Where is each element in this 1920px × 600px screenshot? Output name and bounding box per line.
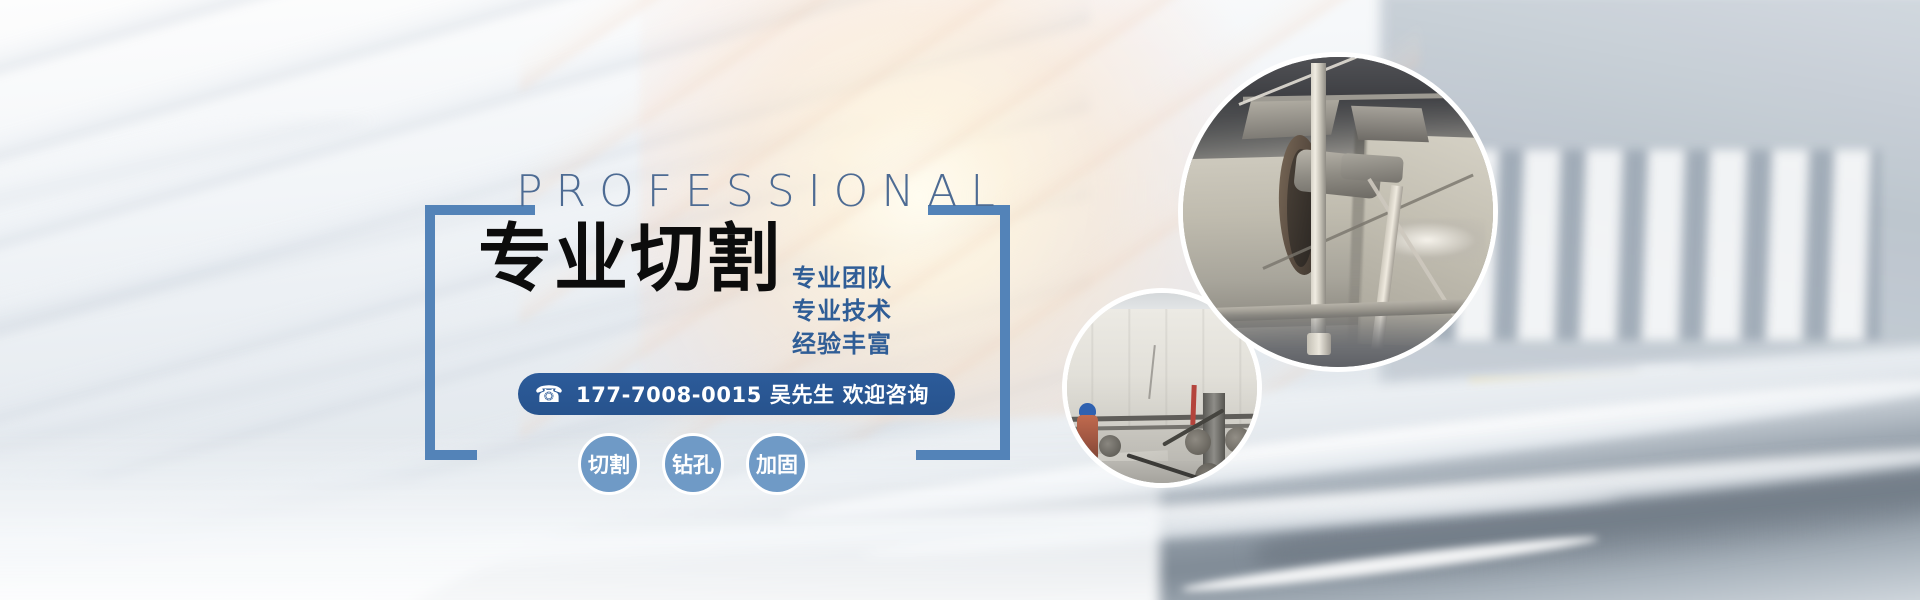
promo-banner: PROFESSIONAL 专业切割 专业团队 专业技术 经验丰富 ☎ 177-7… bbox=[0, 0, 1920, 600]
photo1-saw-gearbox bbox=[1340, 153, 1404, 183]
page-title: 专业切割 bbox=[478, 222, 782, 296]
concrete-saw-machine-photo-content bbox=[1183, 57, 1493, 367]
background-image bbox=[0, 0, 1920, 600]
photo2-pulley-left bbox=[1099, 435, 1121, 457]
tagline-professional: PROFESSIONAL bbox=[516, 170, 1008, 214]
photo2-pulley-b bbox=[1225, 427, 1251, 453]
photo1-hopper-right bbox=[1351, 106, 1429, 142]
photo1-lower-dark-area bbox=[1178, 313, 1498, 372]
service-button-drilling-label: 钻孔 bbox=[672, 449, 714, 479]
service-button-cutting-label: 切割 bbox=[588, 449, 630, 479]
photo2-pulley-a bbox=[1185, 429, 1211, 455]
feature-item-technique: 专业技术 bbox=[792, 295, 892, 328]
service-button-cutting[interactable]: 切割 bbox=[578, 433, 640, 495]
service-button-drilling[interactable]: 钻孔 bbox=[662, 433, 724, 495]
contact-phone-text: 177-7008-0015 吴先生 欢迎咨询 bbox=[576, 379, 929, 409]
contact-phone-pill[interactable]: ☎ 177-7008-0015 吴先生 欢迎咨询 bbox=[518, 373, 955, 415]
feature-item-experience: 经验丰富 bbox=[792, 328, 892, 361]
service-button-reinforcement-label: 加固 bbox=[756, 449, 798, 479]
telephone-icon: ☎ bbox=[536, 381, 562, 407]
feature-item-team: 专业团队 bbox=[792, 262, 892, 295]
feature-list: 专业团队 专业技术 经验丰富 bbox=[792, 262, 892, 361]
concrete-saw-machine-photo bbox=[1178, 52, 1498, 372]
photo1-concrete-spall bbox=[1389, 219, 1485, 261]
photo1-mast-foot bbox=[1307, 333, 1331, 355]
photo2-worker-body bbox=[1077, 415, 1098, 461]
service-button-reinforcement[interactable]: 加固 bbox=[746, 433, 808, 495]
